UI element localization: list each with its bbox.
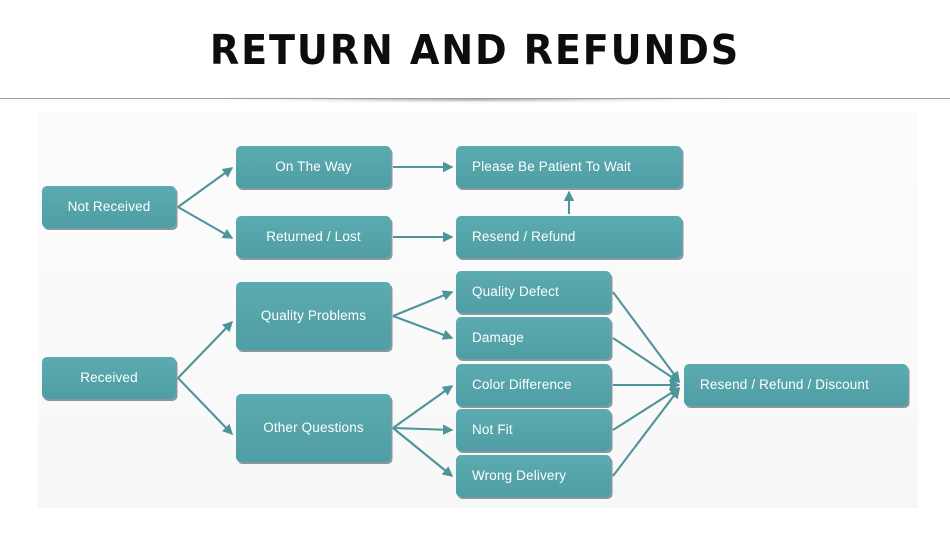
node-label: Resend / Refund / Discount [700, 377, 869, 393]
edge-damage-resend-refund-discount [613, 338, 679, 382]
edge-other-questions-not-fit [393, 428, 452, 430]
edge-other-questions-color-difference [393, 386, 452, 428]
node-not-fit[interactable]: Not Fit [456, 409, 611, 451]
edge-not-received-returned-lost [178, 207, 232, 238]
edge-received-quality-problems [178, 322, 232, 378]
node-label: Not Fit [472, 422, 513, 438]
node-color-difference[interactable]: Color Difference [456, 364, 611, 406]
node-not-received[interactable]: Not Received [42, 186, 176, 228]
node-label: Received [80, 370, 137, 386]
edge-received-other-questions [178, 378, 232, 434]
node-label: Quality Problems [261, 308, 366, 324]
edge-quality-problems-quality-defect [393, 292, 452, 316]
node-resend-refund-discount[interactable]: Resend / Refund / Discount [684, 364, 908, 406]
node-label: Wrong Delivery [472, 468, 566, 484]
node-label: Not Received [68, 199, 151, 215]
node-on-the-way[interactable]: On The Way [236, 146, 391, 188]
node-other-questions[interactable]: Other Questions [236, 394, 391, 462]
edge-quality-defect-resend-refund-discount [613, 292, 679, 381]
node-quality-problems[interactable]: Quality Problems [236, 282, 391, 350]
node-label: Damage [472, 330, 524, 346]
slide: RETURN AND REFUNDS [0, 0, 950, 535]
edge-wrong-delivery-resend-refund-discount [613, 389, 679, 476]
node-label: Color Difference [472, 377, 572, 393]
node-returned-lost[interactable]: Returned / Lost [236, 216, 391, 258]
node-resend-refund[interactable]: Resend / Refund [456, 216, 682, 258]
edge-not-fit-resend-refund-discount [613, 388, 679, 430]
node-label: On The Way [275, 159, 352, 175]
node-received[interactable]: Received [42, 357, 176, 399]
node-damage[interactable]: Damage [456, 317, 611, 359]
node-wrong-delivery[interactable]: Wrong Delivery [456, 455, 611, 497]
node-label: Resend / Refund [472, 229, 576, 245]
edge-not-received-on-the-way [178, 168, 232, 207]
edge-quality-problems-damage [393, 316, 452, 338]
edge-other-questions-wrong-delivery [393, 428, 452, 476]
node-please-be-patient-to-wait[interactable]: Please Be Patient To Wait [456, 146, 682, 188]
flowchart: Not Received On The Way Returned / Lost … [0, 0, 950, 535]
node-label: Please Be Patient To Wait [472, 159, 631, 175]
node-label: Other Questions [263, 420, 364, 436]
node-label: Returned / Lost [266, 229, 361, 245]
node-label: Quality Defect [472, 284, 559, 300]
node-quality-defect[interactable]: Quality Defect [456, 271, 611, 313]
